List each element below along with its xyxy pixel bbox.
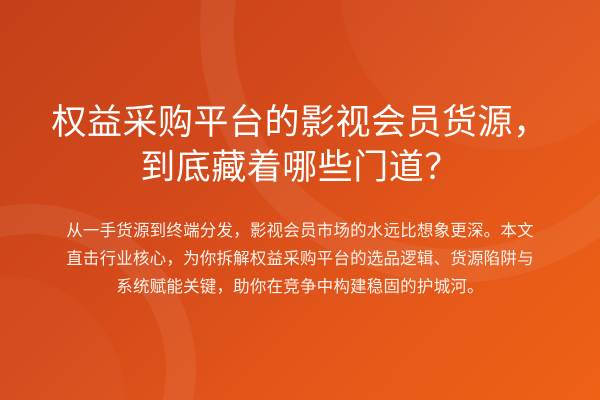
cover-subtitle-line-1: 从一手货源到终端分发，影视会员市场的水远比想象更深。本文 <box>66 217 534 245</box>
cover-title: 权益采购平台的影视会员货源， 到底藏着哪些门道？ <box>51 100 548 190</box>
cover-content: 权益采购平台的影视会员货源， 到底藏着哪些门道？ 从一手货源到终端分发，影视会员… <box>0 0 600 400</box>
cover-subtitle-line-3: 系统赋能关键，助你在竞争中构建稳固的护城河。 <box>66 273 534 301</box>
cover-subtitle-line-2: 直击行业核心，为你拆解权益采购平台的选品逻辑、货源陷阱与 <box>66 245 534 273</box>
article-cover-banner: 权益采购平台的影视会员货源， 到底藏着哪些门道？ 从一手货源到终端分发，影视会员… <box>0 0 600 400</box>
cover-subtitle: 从一手货源到终端分发，影视会员市场的水远比想象更深。本文 直击行业核心，为你拆解… <box>66 217 534 301</box>
cover-title-line-1: 权益采购平台的影视会员货源， <box>51 100 548 145</box>
cover-title-line-2: 到底藏着哪些门道？ <box>51 145 548 190</box>
